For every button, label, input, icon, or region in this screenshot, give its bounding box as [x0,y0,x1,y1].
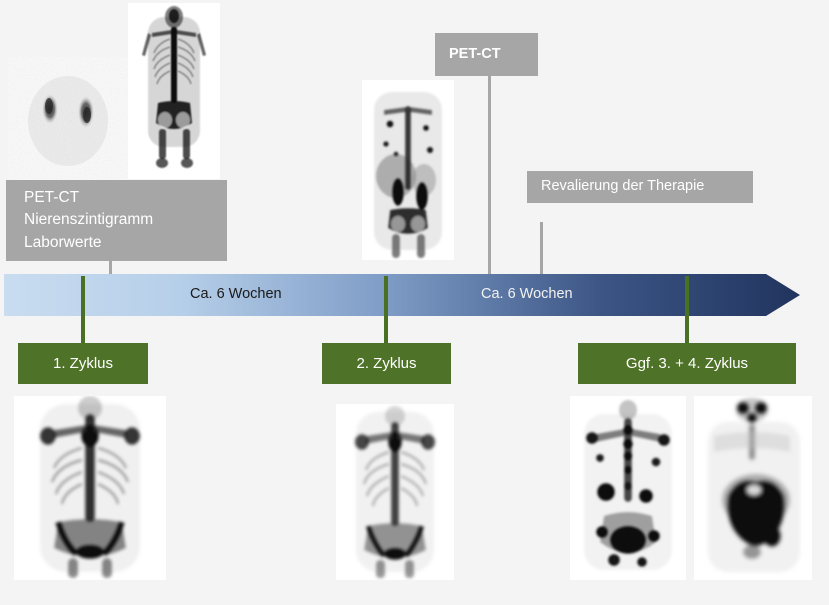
baseline-line-3: Laborwerte [24,232,227,254]
interval-label-2: Ca. 6 Wochen [481,286,573,302]
cycle-2-box[interactable]: 2. Zyklus [322,343,451,384]
whole-body-scan-cycle-1-image [14,396,166,580]
baseline-line-2: Nierenszintigramm [24,209,227,231]
connector-reevaluation [540,222,543,274]
interval-label-1: Ca. 6 Wochen [190,286,282,302]
timeline-tick-1 [81,276,85,316]
whole-body-scan-cycle-2-image [336,404,454,580]
timeline-tick-3 [685,276,689,316]
whole-body-scan-baseline-image [128,3,220,179]
cycle-1-label: 1. Zyklus [53,355,113,372]
cycle-2-label: 2. Zyklus [356,355,416,372]
timeline-arrow [4,274,800,316]
interim-petct-label: PET-CT [449,44,538,65]
pet-ct-interim-image [362,80,454,260]
treatment-timeline-diagram: PET-CT Nierenszintigramm Laborwerte PET-… [0,0,829,605]
whole-body-scan-cycle-3-image [570,396,686,580]
timeline-tick-2 [384,276,388,316]
interim-petct-callout: PET-CT [435,33,538,76]
reevaluation-callout: Revalierung der Therapie [527,171,753,203]
cycle-3-box[interactable]: Ggf. 3. + 4. Zyklus [578,343,796,384]
renal-scintigram-baseline-image [8,57,128,185]
baseline-diagnostics-callout: PET-CT Nierenszintigramm Laborwerte [6,180,227,261]
cycle-1-box[interactable]: 1. Zyklus [18,343,148,384]
reevaluation-label: Revalierung der Therapie [541,176,753,197]
whole-body-scan-cycle-4-image [694,396,812,580]
baseline-line-1: PET-CT [24,187,227,209]
connector-interim-petct [488,76,491,274]
cycle-3-label: Ggf. 3. + 4. Zyklus [626,355,748,372]
